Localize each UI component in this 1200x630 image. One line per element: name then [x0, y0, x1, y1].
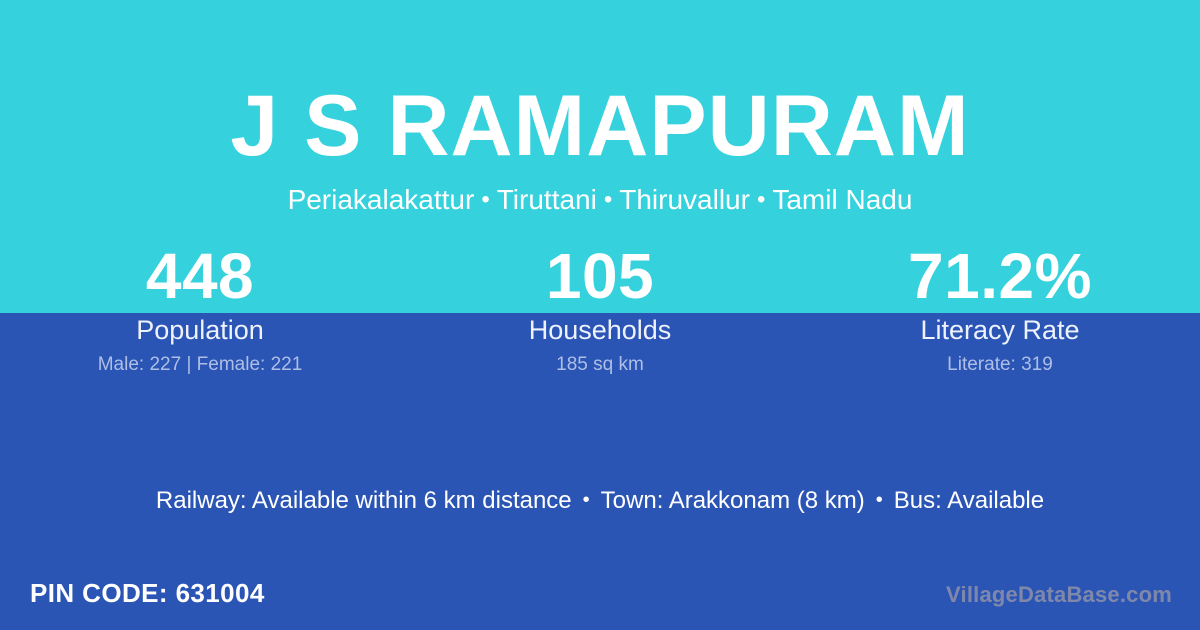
stat-label-literacy-rate: Literacy Rate: [800, 315, 1200, 345]
stat-population: 448 Population Male: 227 | Female: 221: [0, 243, 400, 376]
breadcrumb-separator-1: •: [474, 186, 496, 213]
stats-row: 448 Population Male: 227 | Female: 221 1…: [0, 243, 1200, 376]
page-title: J S RAMAPURAM: [0, 0, 1200, 170]
transport-bus: Bus: Available: [894, 487, 1044, 514]
stat-sub-households: 185 sq km: [400, 354, 800, 376]
transport-town: Town: Arakkonam (8 km): [601, 487, 865, 514]
pin-code: PIN CODE: 631004: [30, 577, 265, 609]
transport-separator-2: •: [865, 489, 894, 511]
stat-label-households: Households: [400, 315, 800, 345]
breadcrumb-separator-3: •: [750, 186, 772, 213]
transport-info: Railway: Available within 6 km distance•…: [0, 485, 1200, 516]
transport-railway: Railway: Available within 6 km distance: [156, 487, 572, 514]
stat-label-population: Population: [0, 315, 400, 345]
stat-value-households: 105: [400, 243, 800, 309]
transport-separator-1: •: [572, 489, 601, 511]
stat-sub-literacy-rate: Literate: 319: [800, 354, 1200, 376]
village-info-card: J S RAMAPURAM Periakalakattur•Tiruttani•…: [0, 0, 1200, 630]
breadcrumb-block: Tiruttani: [497, 184, 597, 215]
breadcrumb-separator-2: •: [597, 186, 619, 213]
header: J S RAMAPURAM Periakalakattur•Tiruttani•…: [0, 0, 1200, 217]
stat-literacy-rate: 71.2% Literacy Rate Literate: 319: [800, 243, 1200, 376]
stat-value-literacy-rate: 71.2%: [800, 243, 1200, 309]
location-breadcrumb: Periakalakattur•Tiruttani•Thiruvallur•Ta…: [0, 170, 1200, 217]
site-watermark: VillageDataBase.com: [946, 581, 1172, 609]
stat-value-population: 448: [0, 243, 400, 309]
breadcrumb-district: Thiruvallur: [619, 184, 750, 215]
footer: PIN CODE: 631004 VillageDataBase.com: [0, 572, 1200, 630]
stat-households: 105 Households 185 sq km: [400, 243, 800, 376]
breadcrumb-locality: Periakalakattur: [288, 184, 475, 215]
stat-sub-population: Male: 227 | Female: 221: [0, 354, 400, 376]
breadcrumb-state: Tamil Nadu: [772, 184, 912, 215]
